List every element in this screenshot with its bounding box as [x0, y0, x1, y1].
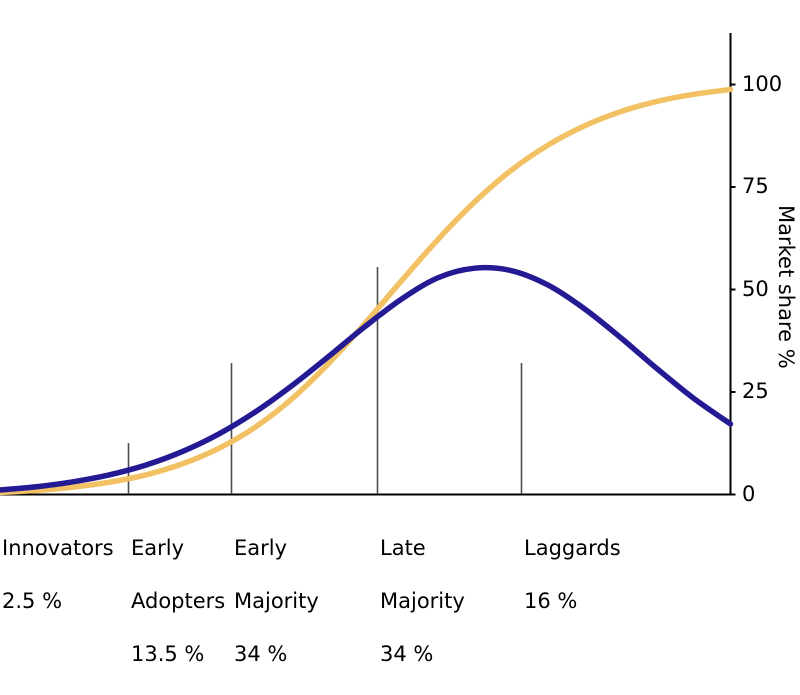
bell-curve-line [0, 268, 731, 490]
segment-name-early-adopters-line1: Early [131, 535, 225, 562]
segment-name-late-majority-line2: Majority [380, 588, 465, 615]
segment-label-late-majority: Late Majority 34 % [380, 508, 465, 695]
diffusion-of-innovation-chart: 0 25 50 75 100 Market share % Innovators… [0, 0, 800, 600]
segment-label-innovators: Innovators 2.5 % [2, 508, 114, 641]
segment-name-early-majority-line1: Early [234, 535, 319, 562]
y-tick-label-75: 75 [742, 176, 769, 197]
segment-label-early-adopters: Early Adopters 13.5 % [131, 508, 225, 695]
s-curve-line [0, 89, 731, 492]
segment-name-laggards: Laggards [524, 535, 621, 562]
segment-name-innovators: Innovators [2, 535, 114, 562]
segment-pct-innovators: 2.5 % [2, 588, 114, 615]
segment-pct-laggards: 16 % [524, 588, 621, 615]
y-tick-label-25: 25 [742, 381, 769, 402]
segment-name-early-majority-line2: Majority [234, 588, 319, 615]
segment-label-early-majority: Early Majority 34 % [234, 508, 319, 695]
y-tick-label-0: 0 [742, 484, 755, 505]
y-tick-label-100: 100 [742, 74, 782, 95]
segment-pct-late-majority: 34 % [380, 641, 465, 668]
y-tick-label-50: 50 [742, 279, 769, 300]
segment-name-early-adopters-line2: Adopters [131, 588, 225, 615]
y-axis-title: Market share % [775, 205, 796, 369]
segment-name-late-majority-line1: Late [380, 535, 465, 562]
segment-label-laggards: Laggards 16 % [524, 508, 621, 641]
segment-pct-early-adopters: 13.5 % [131, 641, 225, 668]
segment-pct-early-majority: 34 % [234, 641, 319, 668]
